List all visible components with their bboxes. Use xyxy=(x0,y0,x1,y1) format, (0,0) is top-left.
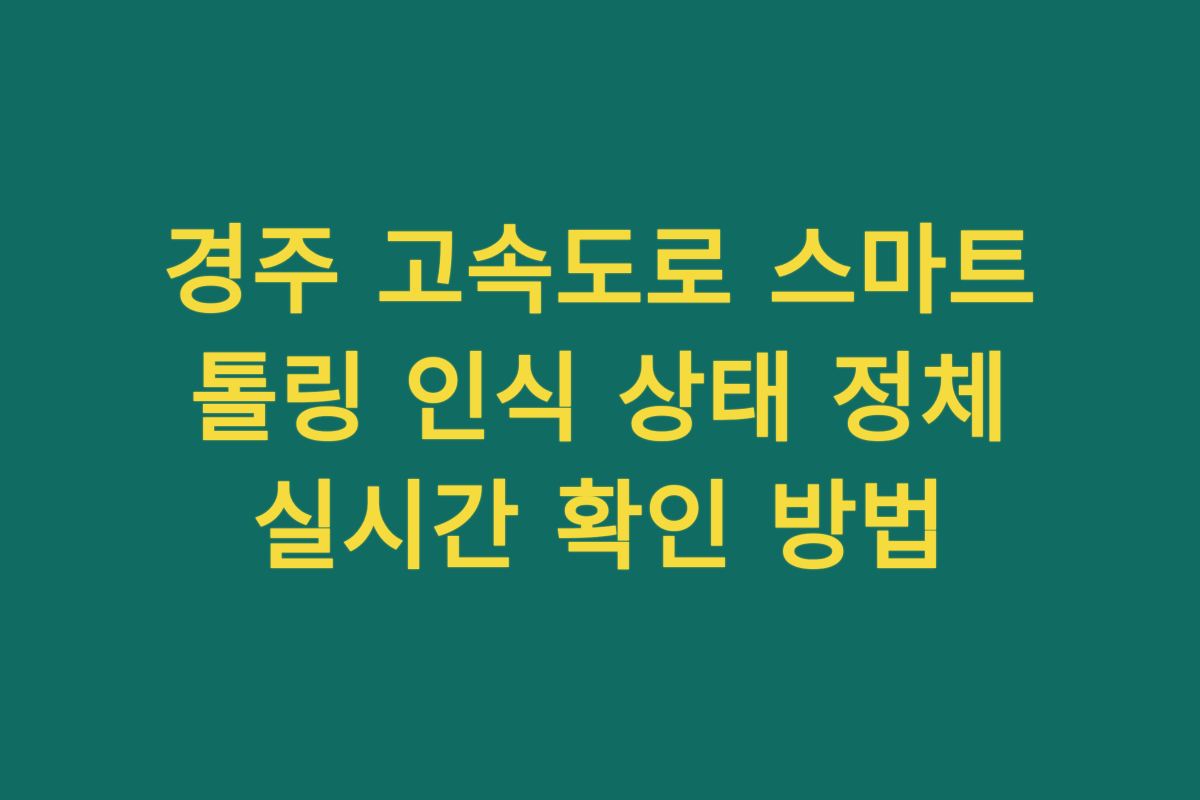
title-text: 경주 고속도로 스마트 톨링 인식 상태 정체 실시간 확인 방법 xyxy=(163,215,1037,582)
thumbnail-canvas: 경주 고속도로 스마트 톨링 인식 상태 정체 실시간 확인 방법 xyxy=(0,0,1200,800)
page-title: 경주 고속도로 스마트 톨링 인식 상태 정체 실시간 확인 방법 xyxy=(70,208,1130,591)
